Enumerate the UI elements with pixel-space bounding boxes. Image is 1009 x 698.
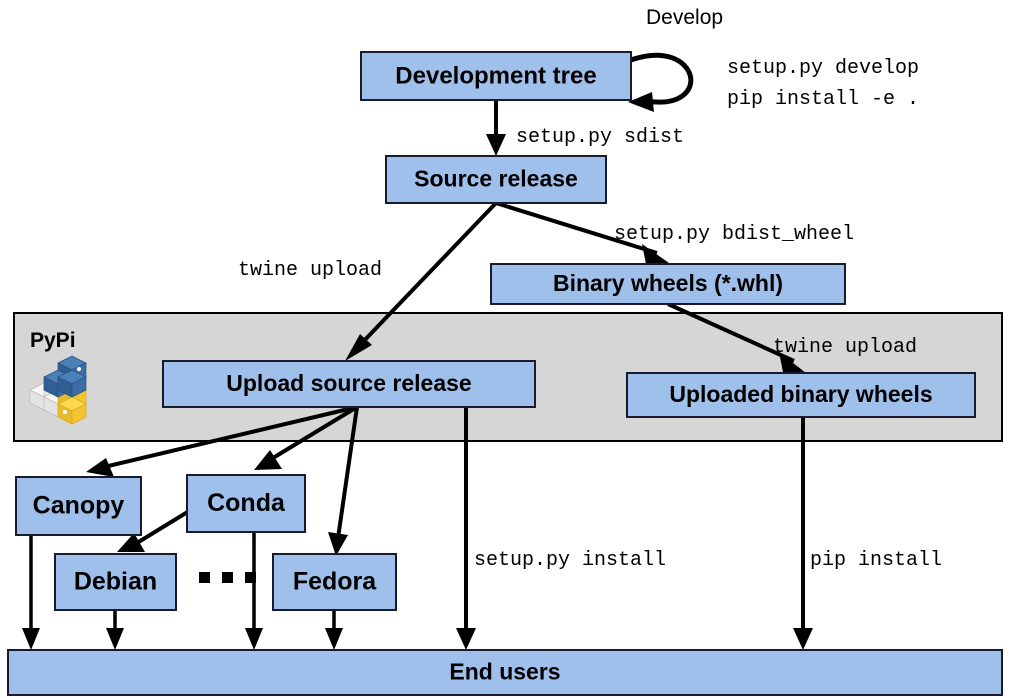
node-label-conda: Conda: [207, 489, 286, 517]
arrow-head-upload-to-endusers: [456, 628, 476, 650]
node-label-dev-tree: Development tree: [395, 62, 596, 89]
ellipsis-dot: [245, 572, 256, 583]
arrow-head-uploaded-to-endusers: [793, 628, 813, 650]
edge-fedora-to-endusers: [325, 610, 343, 650]
arrow-head-upload-to-fedora: [328, 532, 348, 556]
node-label-binary-wheels: Binary wheels (*.whl): [553, 270, 783, 296]
node-source-release[interactable]: Source release: [386, 156, 606, 203]
node-end-users[interactable]: End users: [8, 650, 1002, 695]
edge-develop-loop: [628, 55, 691, 112]
edge-uploaded-to-endusers: [793, 417, 813, 650]
arrow-head-fedora-to-endusers: [325, 628, 343, 650]
edge-label-dev-to-sdist: setup.py sdist: [516, 126, 684, 149]
ellipsis-dot: [199, 572, 210, 583]
edge-label-develop-cmd-1: setup.py develop: [727, 57, 919, 80]
packaging-flow-diagram: PyPi: [0, 0, 1009, 698]
node-label-debian: Debian: [74, 568, 157, 596]
node-label-source-release: Source release: [414, 166, 578, 192]
node-uploaded-wheels[interactable]: Uploaded binary wheels: [627, 373, 975, 417]
arrow-head-source-to-wheels: [642, 244, 669, 264]
edge-debian-to-endusers: [106, 610, 124, 650]
arrow-head-upload-to-canopy: [86, 458, 114, 477]
node-dev-tree[interactable]: Development tree: [361, 52, 631, 100]
edge-label-sdist-twine-upload: twine upload: [238, 259, 382, 282]
node-label-uploaded-wheels: Uploaded binary wheels: [669, 381, 932, 407]
edge-label-develop-loop: Develop: [646, 6, 723, 29]
edge-upload-to-endusers: [456, 407, 476, 650]
edge-dev-to-source: [486, 100, 506, 156]
edge-label-pip-install: pip install: [810, 549, 942, 572]
node-canopy[interactable]: Canopy: [16, 477, 141, 535]
edge-conda-to-endusers: [245, 532, 263, 650]
node-label-canopy: Canopy: [33, 492, 125, 520]
node-debian[interactable]: Debian: [55, 554, 176, 610]
node-upload-source[interactable]: Upload source release: [163, 361, 535, 407]
arrow-head-conda-to-endusers: [245, 628, 263, 650]
pypi-group-label: PyPi: [30, 329, 76, 352]
arrow-head-debian-to-endusers: [106, 628, 124, 650]
edge-canopy-to-endusers: [22, 535, 40, 650]
diagram-canvas: PyPi: [0, 0, 1009, 698]
arrow-head-dev-to-source: [486, 134, 506, 156]
edge-label-setup-py-install: setup.py install: [474, 549, 666, 572]
node-binary-wheels[interactable]: Binary wheels (*.whl): [491, 264, 845, 304]
ellipsis-dot: [222, 572, 233, 583]
edge-label-develop-cmd-2: pip install -e .: [727, 88, 919, 111]
node-fedora[interactable]: Fedora: [273, 554, 396, 610]
node-conda[interactable]: Conda: [187, 475, 305, 532]
node-label-upload-source: Upload source release: [226, 370, 471, 396]
more-distros-ellipsis: [199, 572, 256, 583]
edge-label-wheel-twine-upload: twine upload: [773, 336, 917, 359]
arrow-head-canopy-to-endusers: [22, 628, 40, 650]
node-label-fedora: Fedora: [293, 568, 377, 596]
edge-label-sdist-to-wheel: setup.py bdist_wheel: [614, 223, 854, 246]
node-label-end-users: End users: [449, 659, 560, 685]
